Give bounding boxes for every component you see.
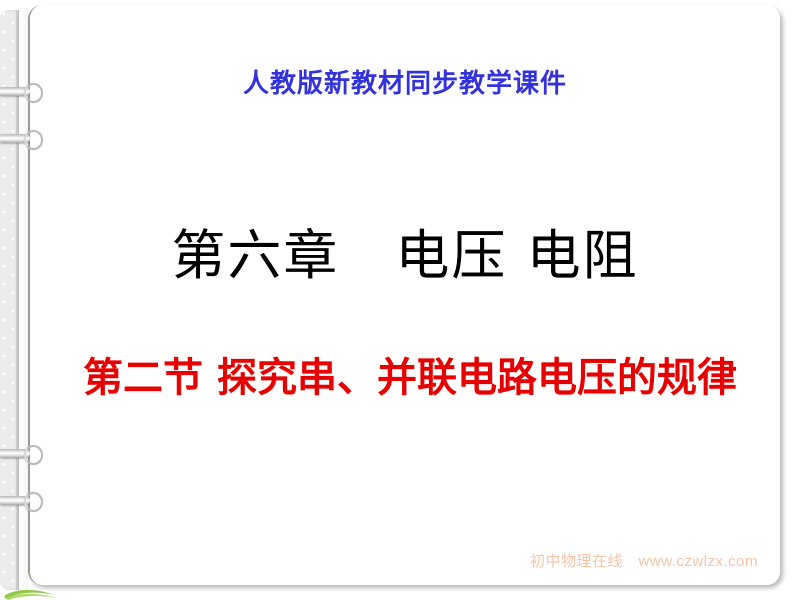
section-title: 第二节 探究串、并联电路电压的规律: [48, 353, 772, 403]
kicker-text: 人教版新教材同步教学课件: [30, 67, 780, 101]
page-surface: 人教版新教材同步教学课件 第六章 电压 电阻 第二节 探究串、并联电路电压的规律…: [30, 5, 780, 585]
binder-spine-gap: [19, 8, 28, 592]
chapter-title: 第六章 电压 电阻: [30, 223, 780, 289]
watermark-text: 初中物理在线 www.czwlzx.com: [530, 550, 758, 571]
binder-cover: [0, 10, 19, 590]
slide-canvas: 人教版新教材同步教学课件 第六章 电压 电阻 第二节 探究串、并联电路电压的规律…: [0, 0, 800, 600]
notebook-page: 人教版新教材同步教学课件 第六章 电压 电阻 第二节 探究串、并联电路电压的规律…: [28, 5, 780, 585]
